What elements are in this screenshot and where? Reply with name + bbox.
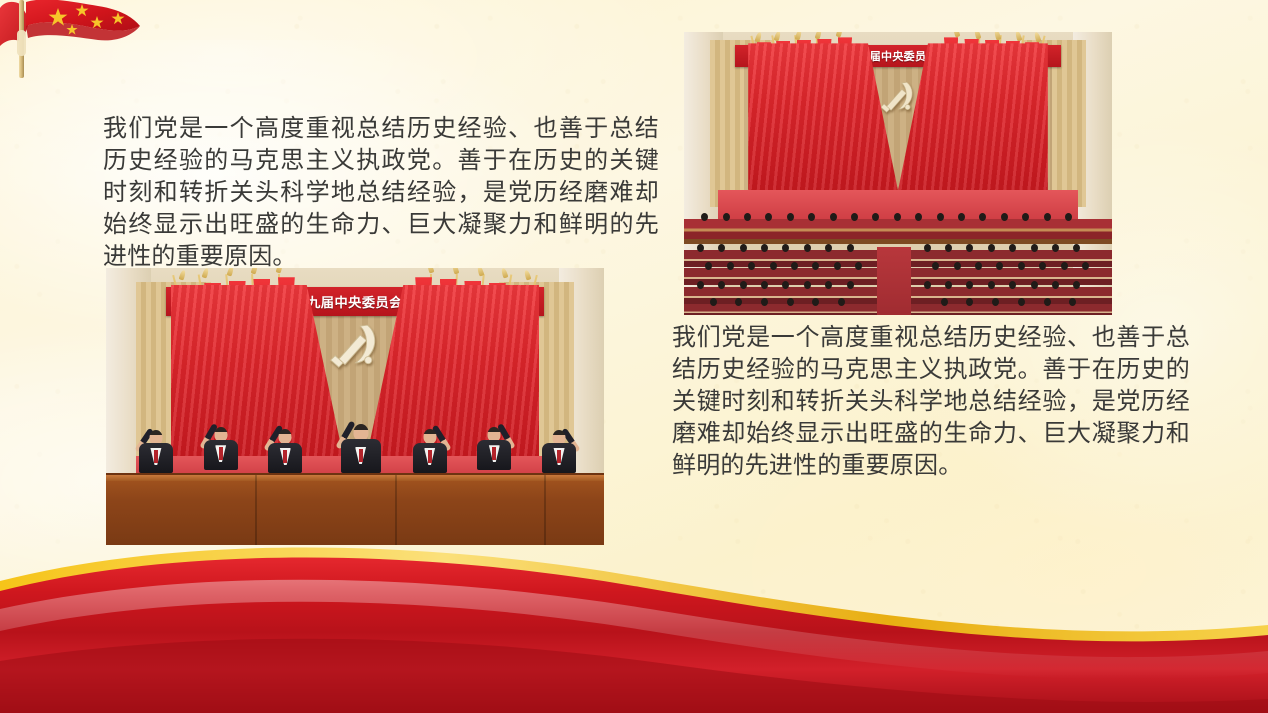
delegate	[474, 422, 514, 470]
delegate	[539, 425, 579, 473]
photo-plenary-session-hall[interactable]: 中国共产党第十九届中央委员会第六次全体会议	[684, 32, 1112, 315]
photo-scene: 中国共产党第十九届中央委员会第六次全体会议	[684, 32, 1112, 315]
delegate	[338, 419, 384, 473]
presidium-table	[106, 473, 604, 545]
hammer-and-sickle-emblem	[328, 318, 385, 379]
delegate	[410, 423, 450, 473]
delegate	[201, 422, 241, 470]
photo-scene: 中国共产党第十九届中央委员会第六次全体会议	[106, 268, 604, 545]
chinese-national-flag-icon	[0, 0, 150, 78]
paragraph-right: 我们党是一个高度重视总结历史经验、也善于总结历史经验的马克思主义执政党。善于在历…	[672, 322, 1190, 482]
paragraph-left: 我们党是一个高度重视总结历史经验、也善于总结历史经验的马克思主义执政党。善于在历…	[103, 113, 659, 273]
photo-plenary-session-presidium[interactable]: 中国共产党第十九届中央委员会第六次全体会议	[106, 268, 604, 545]
presidium-row	[684, 219, 1112, 239]
stage-rail	[684, 239, 1112, 244]
slide-canvas: 我们党是一个高度重视总结历史经验、也善于总结历史经验的马克思主义执政党。善于在历…	[0, 0, 1268, 713]
center-aisle	[877, 247, 911, 315]
delegate	[136, 425, 176, 473]
delegate	[265, 423, 305, 473]
